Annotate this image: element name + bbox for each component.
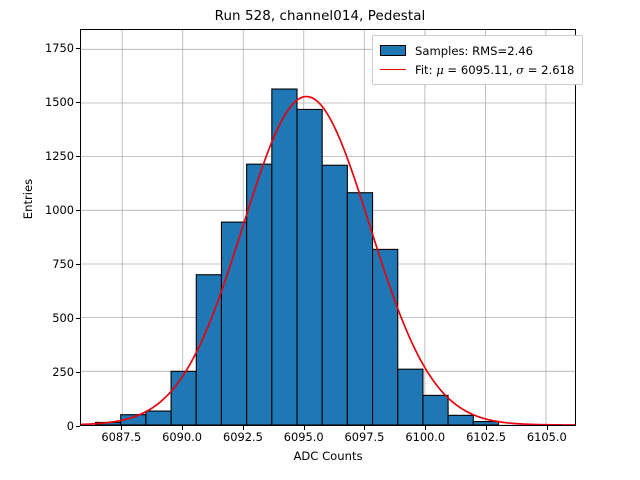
x-axis-label: ADC Counts [80, 449, 576, 463]
y-tick-label: 0 [28, 419, 74, 433]
histogram-bar [322, 165, 347, 425]
y-tick-label: 1500 [28, 95, 74, 109]
histogram-bar [272, 89, 297, 425]
x-tick-label: 6095.0 [284, 430, 324, 444]
legend-fit-sigma-symbol: σ [516, 63, 524, 77]
y-tick-label: 250 [28, 365, 74, 379]
histogram-bar [196, 275, 221, 425]
y-axis-label: Entries [21, 109, 35, 289]
x-tick-label: 6100.0 [405, 430, 445, 444]
histogram-bar [398, 369, 423, 425]
legend-label-samples: Samples: RMS=2.46 [415, 44, 533, 58]
histogram-bar [373, 249, 398, 425]
y-tick-mark [76, 48, 80, 49]
histogram-bar [297, 109, 322, 425]
y-tick-mark [76, 210, 80, 211]
legend-fit-mu-symbol: μ [436, 63, 444, 77]
x-tick-label: 6090.0 [162, 430, 202, 444]
y-tick-label: 1750 [28, 41, 74, 55]
histogram-bar [347, 193, 372, 425]
histogram-bar [473, 422, 498, 425]
x-tick-label: 6087.5 [101, 430, 141, 444]
x-tick-label: 6105.0 [527, 430, 567, 444]
y-tick-mark [76, 156, 80, 157]
x-tick-label: 6102.5 [466, 430, 506, 444]
histogram-bar [423, 395, 448, 425]
legend-swatch-samples [380, 45, 406, 56]
legend-swatch-fit [380, 69, 406, 70]
histogram-bar [448, 415, 473, 425]
histogram-bar [171, 371, 196, 425]
histogram-bar [146, 411, 171, 425]
histogram-svg [81, 30, 575, 425]
legend-fit-sigma-value: = 2.618 [524, 63, 574, 77]
chart-title: Run 528, channel014, Pedestal [0, 9, 640, 24]
plot-area [80, 29, 576, 426]
legend-fit-prefix: Fit: [415, 63, 436, 77]
x-tick-label: 6097.5 [345, 430, 385, 444]
y-tick-mark [76, 102, 80, 103]
legend-fit-mu-value: = 6095.11, [444, 63, 516, 77]
chart-figure: Run 528, channel014, Pedestal 6087.56090… [0, 0, 640, 480]
y-tick-mark [76, 372, 80, 373]
legend-label-fit: Fit: μ = 6095.11, σ = 2.618 [415, 63, 574, 77]
chart-legend: Samples: RMS=2.46 Fit: μ = 6095.11, σ = … [372, 35, 583, 85]
legend-item-fit: Fit: μ = 6095.11, σ = 2.618 [380, 60, 574, 79]
y-tick-mark [76, 426, 80, 427]
y-tick-label: 500 [28, 311, 74, 325]
y-tick-mark [76, 318, 80, 319]
legend-item-samples: Samples: RMS=2.46 [380, 41, 574, 60]
y-tick-mark [76, 264, 80, 265]
x-tick-label: 6092.5 [223, 430, 263, 444]
